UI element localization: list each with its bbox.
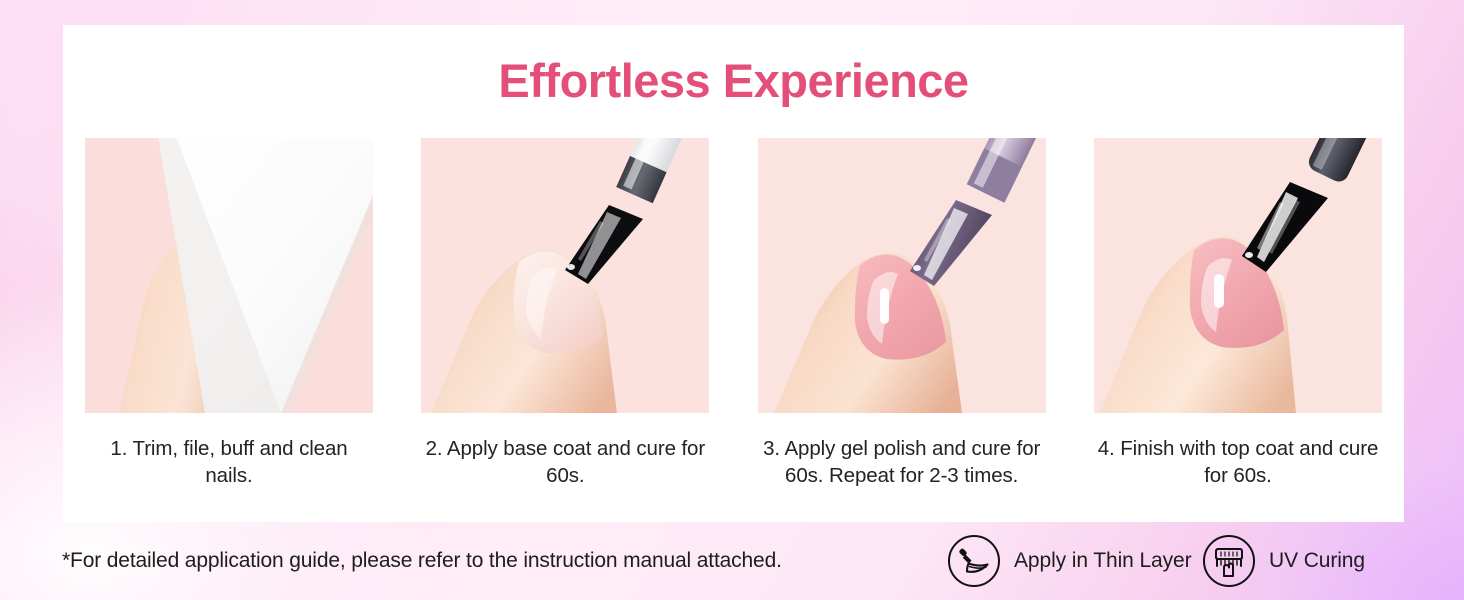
footer-note: *For detailed application guide, please … bbox=[62, 549, 782, 573]
gel-polish-brush-illustration bbox=[758, 138, 1046, 413]
badge-uv-curing-label: UV Curing bbox=[1269, 549, 1365, 573]
badge-apply-in-thin-layer-label: Apply in Thin Layer bbox=[1014, 549, 1191, 573]
thin-layer-brush-icon bbox=[948, 535, 1000, 587]
base-coat-brush-illustration bbox=[421, 138, 709, 413]
promo-banner: Effortless Experience bbox=[0, 0, 1464, 600]
page-title: Effortless Experience bbox=[63, 53, 1404, 108]
steps-row: 1. Trim, file, buff and clean nails. bbox=[85, 138, 1382, 490]
step-2-image bbox=[421, 138, 709, 413]
step-1-image bbox=[85, 138, 373, 413]
step-4: 4. Finish with top coat and cure for 60s… bbox=[1094, 138, 1382, 490]
footer: *For detailed application guide, please … bbox=[0, 522, 1464, 600]
step-4-caption: 4. Finish with top coat and cure for 60s… bbox=[1094, 435, 1382, 490]
badge-apply-in-thin-layer: Apply in Thin Layer bbox=[948, 535, 1191, 587]
badge-uv-curing: UV Curing bbox=[1203, 535, 1365, 587]
top-coat-brush-illustration bbox=[1094, 138, 1382, 413]
step-2: 2. Apply base coat and cure for 60s. bbox=[421, 138, 709, 490]
step-1-caption: 1. Trim, file, buff and clean nails. bbox=[85, 435, 373, 490]
step-3: 3. Apply gel polish and cure for 60s. Re… bbox=[758, 138, 1046, 490]
step-4-image bbox=[1094, 138, 1382, 413]
step-1: 1. Trim, file, buff and clean nails. bbox=[85, 138, 373, 490]
step-2-caption: 2. Apply base coat and cure for 60s. bbox=[421, 435, 709, 490]
content-card: Effortless Experience bbox=[63, 25, 1404, 522]
nail-file-illustration bbox=[85, 138, 373, 413]
step-3-image bbox=[758, 138, 1046, 413]
uv-lamp-hand-icon bbox=[1203, 535, 1255, 587]
step-3-caption: 3. Apply gel polish and cure for 60s. Re… bbox=[758, 435, 1046, 490]
